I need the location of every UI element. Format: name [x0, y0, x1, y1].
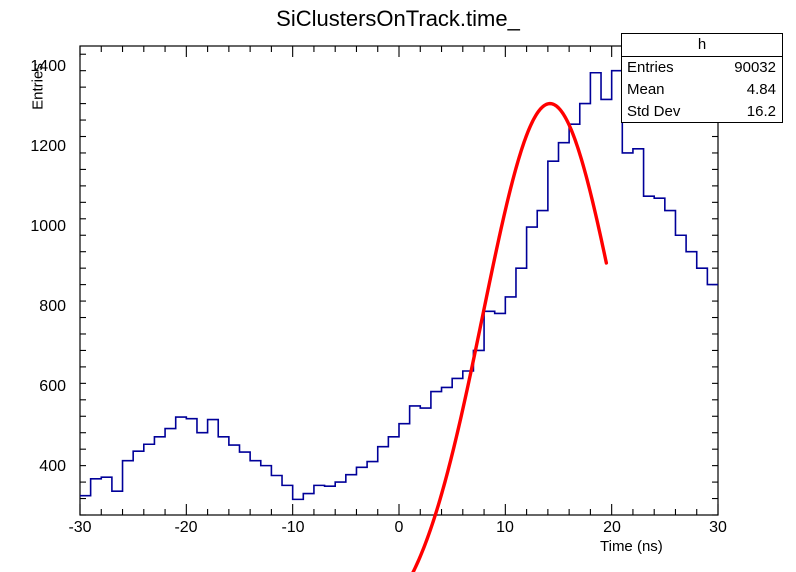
stats-value-stddev: 16.2 [747, 102, 776, 122]
stats-box-title: h [622, 34, 782, 57]
root-canvas: SiClustersOnTrack.time_ Entries Time (ns… [0, 0, 796, 572]
stats-key-stddev: Std Dev [627, 102, 680, 122]
stats-value-mean: 4.84 [747, 80, 776, 100]
stats-key-mean: Mean [627, 80, 665, 100]
stats-row-stddev: Std Dev 16.2 [622, 101, 782, 123]
stats-key-entries: Entries [627, 58, 674, 78]
stats-value-entries: 90032 [734, 58, 776, 78]
stats-row-entries: Entries 90032 [622, 57, 782, 79]
gaussian-fit-curve [394, 104, 607, 572]
stats-row-mean: Mean 4.84 [622, 79, 782, 101]
stats-box[interactable]: h Entries 90032 Mean 4.84 Std Dev 16.2 [621, 33, 783, 123]
histogram-trace [80, 71, 718, 500]
